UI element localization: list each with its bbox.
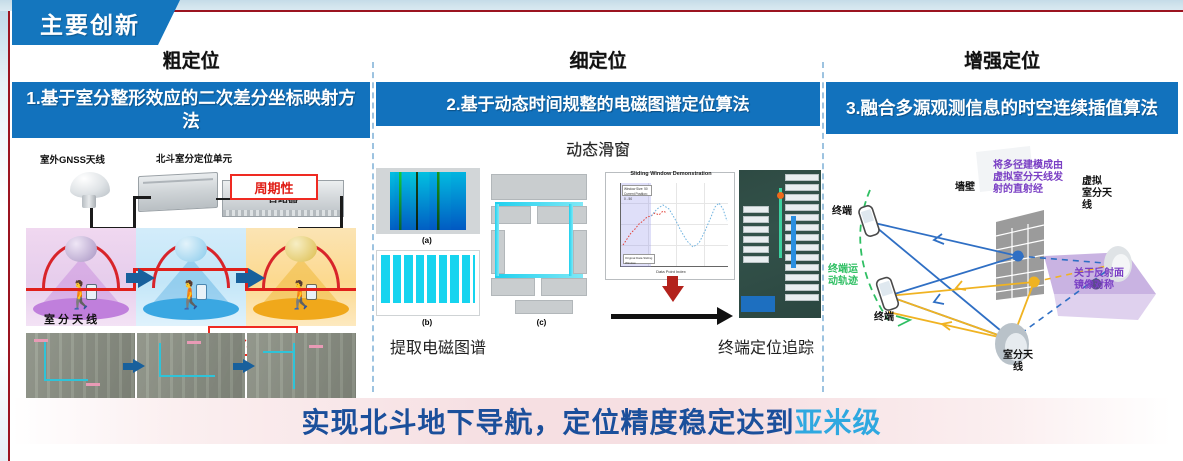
chart-series [621,183,729,267]
chart-xlabel: Data Point Index [606,269,736,274]
bds-indoor-unit-icon [138,172,218,212]
heatmap-a-field [390,172,466,230]
label-terminal-top: 终端 [832,206,852,218]
indoor-antenna-icon-3 [285,236,317,262]
panel-floorplan: (c) [485,168,599,328]
summary-banner-main: 实现北斗地下导航，定位精度稳定达到 [301,407,794,438]
column-3-title: 3.融合多源观测信息的时空连续插值算法 [826,82,1178,134]
heatmap-b [376,250,480,316]
fine-positioning-diagram: 动态滑窗 (a) (b) [376,136,820,391]
coarse-positioning-diagram: 室外GNSS天线 北斗室分定位单元 合路器 [12,148,370,403]
column-3-body: 终端 终端运 动轨迹 终端 墙壁 将多径建模成由虚拟室分天线发射的直射经 虚拟 … [826,144,1178,399]
subfigure-label-c: (c) [537,318,547,327]
track-line-blue [791,216,796,268]
column-2-heading: 细定位 [376,50,820,76]
label-gnss-antenna: 室外GNSS天线 [40,152,105,166]
label-indoor-antenna-3: 室分天 线 [998,350,1038,374]
summary-banner-text: 实现北斗地下导航，定位精度稳定达到亚米级 [301,401,881,441]
tracking-screenshot-image [739,170,821,318]
label-terminal-trajectory: 终端运 动轨迹 [828,264,858,288]
top-red-rule [160,10,1183,12]
flow-arrow-2 [248,268,265,288]
left-red-rule [8,11,10,461]
panel-sliding-window-chart: Sliding Window Demonstration Window Size… [605,168,733,328]
floorplan-image [485,170,601,318]
handset-icon-1 [86,284,97,300]
column-1-body: 室外GNSS天线 北斗室分定位单元 合路器 [12,148,370,403]
column-2-title: 2.基于动态时间规整的电磁图谱定位算法 [376,82,820,126]
sliding-window-chart: Sliding Window Demonstration Window Size… [605,172,735,280]
label-terminal-bottom: 终端 [874,312,894,324]
label-multipath-model: 将多径建模成由虚拟室分天线发射的直射经 [993,160,1069,196]
cable-unit-in [133,196,151,199]
column-coarse-positioning: 粗定位 1.基于室分整形效应的二次差分坐标映射方法 室外GNSS天线 北斗室分定… [12,50,370,403]
subfigure-label-a: (a) [422,236,432,245]
header-tab: 主要创新 [12,0,180,45]
fine-positioning-panels: (a) (b) [376,168,820,328]
summary-banner-accent: 亚米级 [795,407,882,438]
map-photo-1 [26,333,135,401]
subfigure-label-b: (b) [422,318,432,327]
cable-to-unit [133,196,136,230]
screenshot-blue-panel [741,296,775,312]
flow-arrow-shaft [611,314,719,319]
column-fine-positioning: 细定位 2.基于动态时间规整的电磁图谱定位算法 动态滑窗 (a) (b) [376,50,820,391]
indoor-antenna-icon-2 [175,236,207,262]
position-marker-icon [777,192,784,199]
summary-banner: 实现北斗地下导航，定位精度稳定达到亚米级 [12,398,1171,444]
map-photo-2 [137,333,246,401]
indoor-antenna-icon-1 [65,236,97,262]
cable-combiner-out [340,196,343,230]
map-photo-strip [26,333,356,401]
column-enhanced-positioning: 增强定位 3.融合多源观测信息的时空连续插值算法 [826,50,1178,399]
label-wall: 墙壁 [955,182,975,194]
flow-arrow-head [717,307,733,325]
caption-terminal-tracking: 终端定位追踪 [718,334,814,358]
step-line-1 [26,288,136,291]
enhanced-positioning-diagram: 终端 终端运 动轨迹 终端 墙壁 将多径建模成由虚拟室分天线发射的直射经 虚拟 … [826,144,1178,399]
label-mirror-symmetry: 关于反射面 镜像对称 [1074,268,1156,292]
handset-icon-3 [306,284,317,300]
flow-arrow-1 [138,268,155,288]
chart-title: Sliding Window Demonstration [606,171,736,177]
column-3-heading: 增强定位 [826,50,1178,76]
label-virtual-antenna: 虚拟 室分天 线 [1082,176,1122,212]
chart-plot-area: Window Size: 50 Current Position: 0 - 50… [620,183,728,267]
label-bds-unit: 北斗室分定位单元 [156,151,232,165]
panel-tracking-screenshot [739,168,820,328]
heatmap-b-field [381,255,475,303]
column-divider-2 [822,62,824,392]
column-1-heading: 粗定位 [12,50,370,76]
panel-heatmaps: (a) (b) [376,168,479,328]
caption-extract-map: 提取电磁图谱 [390,334,486,358]
down-arrow [662,286,684,302]
label-indoor-antenna: 室 分 天 线 [44,314,60,327]
column-2-body: 动态滑窗 (a) (b) [376,136,820,391]
coverage-zones: 🚶 🚶 🚶 室 分 天 线 [26,228,356,326]
combiner-port-strip [222,210,344,217]
flow-arrow-tail-1 [126,273,138,283]
heatmap-a [376,168,480,234]
step-line-3 [246,288,356,291]
label-sliding-window: 动态滑窗 [376,136,820,162]
header-tab-label: 主要创新 [40,6,152,40]
handset-icon-2 [196,284,207,300]
gnss-antenna-stem [82,195,96,208]
column-divider-1 [372,62,374,392]
map-photo-3 [247,333,356,401]
flow-arrow-tail-2 [236,273,248,283]
callout-periodicity: 周期性 [230,174,318,200]
column-1-title: 1.基于室分整形效应的二次差分坐标映射方法 [12,82,370,138]
